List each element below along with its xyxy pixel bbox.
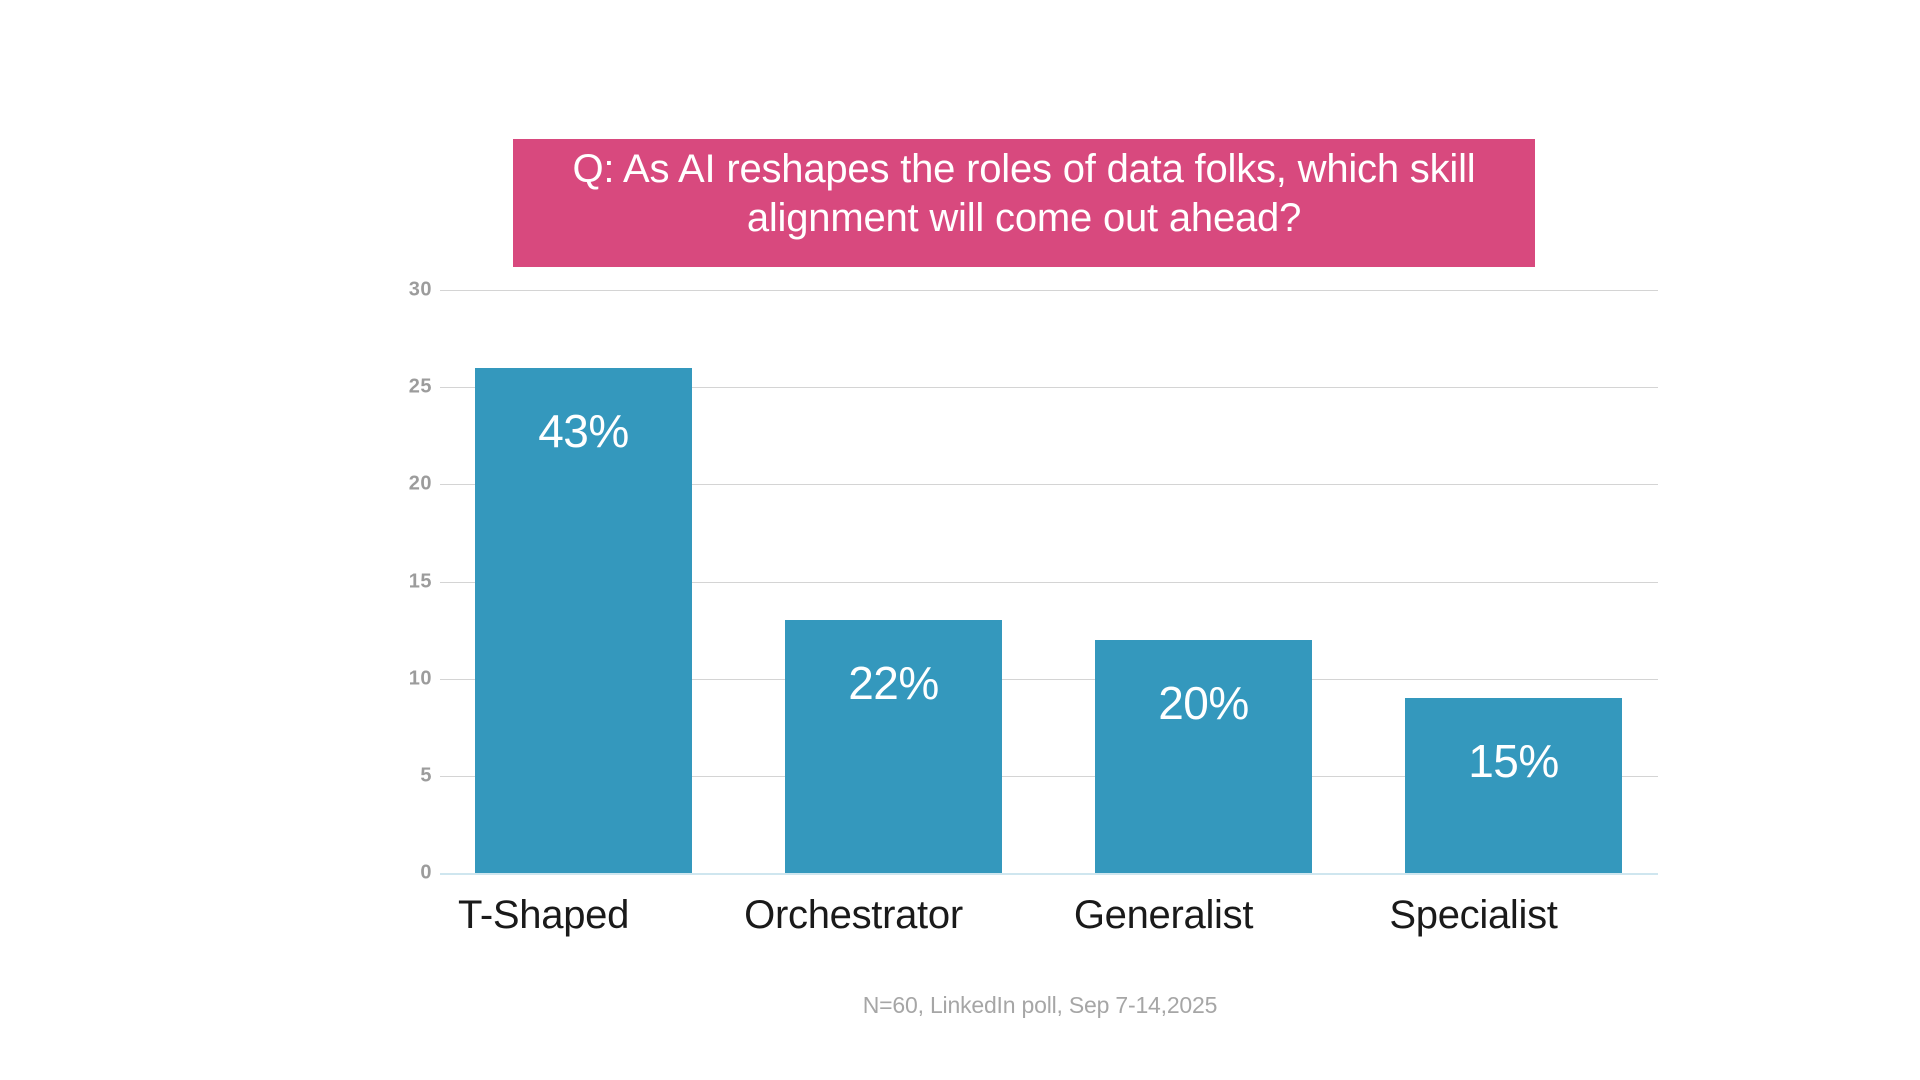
- bar-value-label: 22%: [785, 656, 1002, 710]
- y-tick-label: 10: [409, 667, 432, 690]
- bar-generalist[interactable]: 20%: [1095, 640, 1312, 873]
- bar-value-label: 15%: [1405, 734, 1622, 788]
- bar-orchestrator[interactable]: 22%: [785, 620, 1002, 873]
- chart-title: Q: As AI reshapes the roles of data folk…: [573, 145, 1476, 243]
- y-tick-label: 30: [409, 279, 432, 302]
- y-tick-label: 15: [409, 570, 432, 593]
- chart-title-banner: Q: As AI reshapes the roles of data folk…: [513, 139, 1535, 267]
- axis-baseline: [440, 873, 1658, 875]
- slide-canvas: Q: As AI reshapes the roles of data folk…: [0, 0, 1920, 1080]
- gridline-30: [440, 290, 1658, 291]
- plot-area: 43% 22% 20% 15%: [440, 290, 1658, 873]
- bar-t-shaped[interactable]: 43%: [475, 368, 692, 873]
- bar-value-label: 20%: [1095, 676, 1312, 730]
- y-tick-label: 5: [420, 764, 432, 787]
- chart-footnote: N=60, LinkedIn poll, Sep 7-14,2025: [0, 992, 1920, 1019]
- category-label-generalist: Generalist: [985, 893, 1342, 938]
- category-label-t-shaped: T-Shaped: [365, 893, 722, 938]
- category-label-specialist: Specialist: [1295, 893, 1652, 938]
- y-axis-labels: 30 25 20 15 10 5 0: [370, 290, 432, 873]
- y-tick-label: 20: [409, 473, 432, 496]
- y-tick-label: 0: [420, 862, 432, 885]
- bar-value-label: 43%: [475, 404, 692, 458]
- footnote-text: N=60, LinkedIn poll, Sep 7-14,2025: [863, 992, 1217, 1019]
- y-tick-label: 25: [409, 376, 432, 399]
- category-label-orchestrator: Orchestrator: [675, 893, 1032, 938]
- bar-specialist[interactable]: 15%: [1405, 698, 1622, 873]
